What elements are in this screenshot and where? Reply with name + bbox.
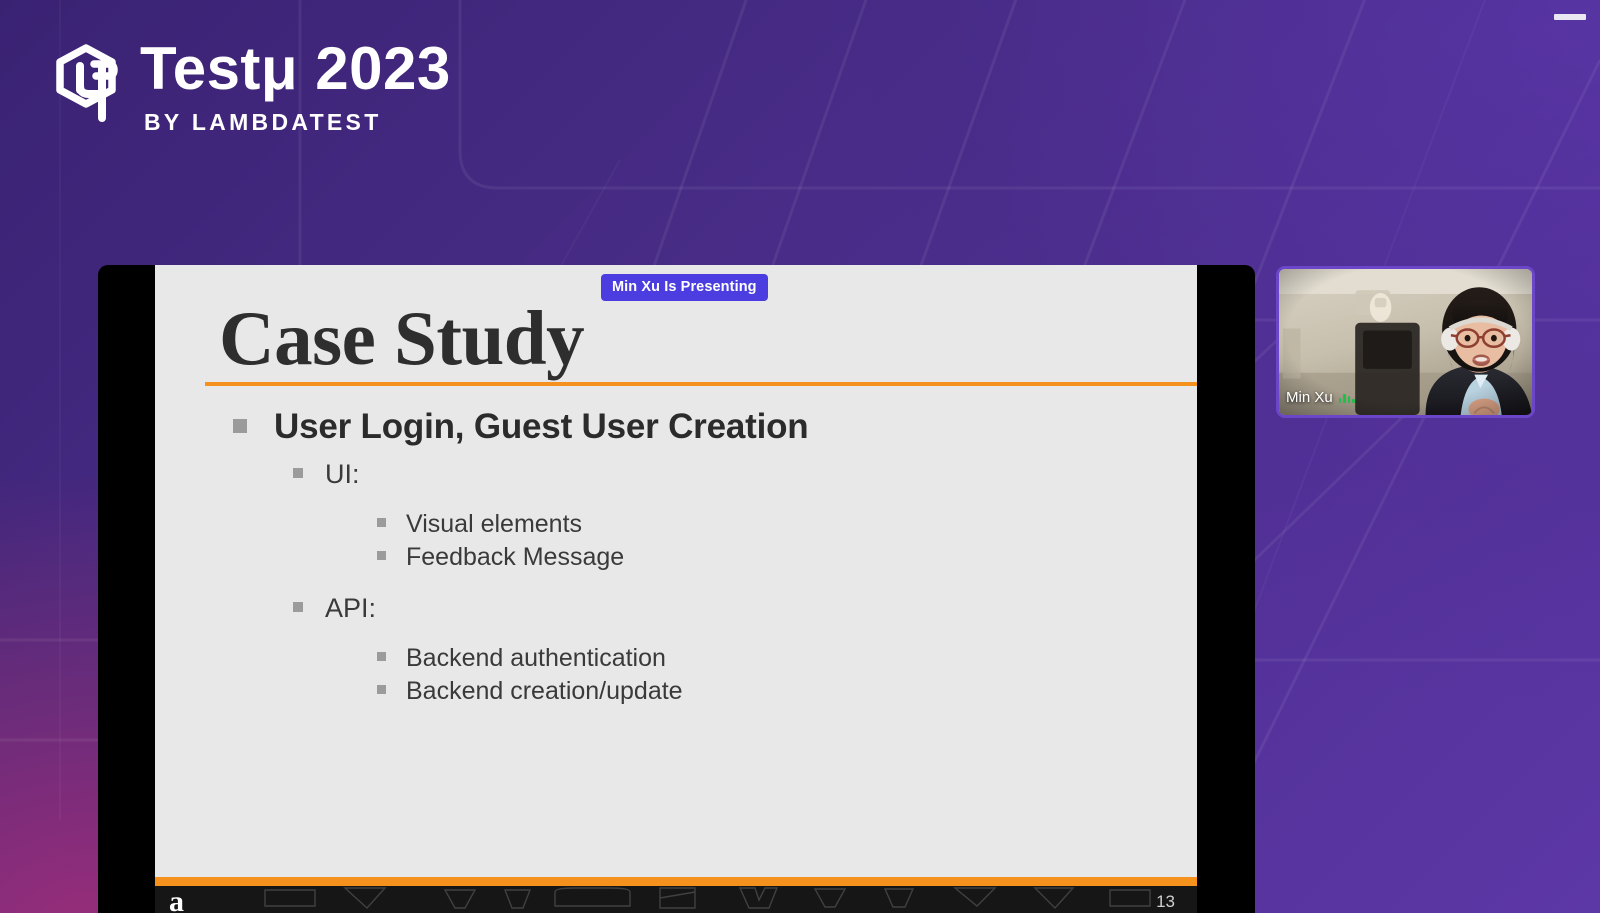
bullet-marker-icon [377, 551, 386, 560]
bullet-text: User Login, Guest User Creation [274, 407, 808, 447]
footer-brand-mark: a [169, 887, 184, 913]
bullet-item: Visual elements [377, 510, 1197, 539]
bullet-item: Backend creation/update [377, 677, 1197, 706]
hexagon-mu-logo-icon [50, 42, 124, 122]
minimize-icon[interactable] [1554, 14, 1586, 20]
bullet-item: User Login, Guest User Creation [233, 407, 1197, 447]
participant-name: Min Xu [1286, 389, 1333, 406]
slide-number: 13 [1156, 892, 1175, 912]
bullet-marker-icon [293, 602, 303, 612]
bullet-text: API: [325, 593, 376, 624]
slide-footer: a 13 [155, 886, 1197, 913]
brand-text-block: Testμ 2023 BY LAMBDATEST [140, 38, 451, 136]
bullet-marker-icon [377, 652, 386, 661]
title-divider [205, 382, 1197, 386]
bullet-item: UI: [293, 459, 1197, 490]
footer-decoration-pattern [155, 886, 1197, 913]
bullet-text: Backend authentication [406, 644, 666, 673]
bullet-text: Visual elements [406, 510, 582, 539]
bullet-item: Feedback Message [377, 543, 1197, 572]
brand-header: Testμ 2023 BY LAMBDATEST [50, 38, 451, 136]
bullet-text: Feedback Message [406, 543, 624, 572]
slide-body: User Login, Guest User Creation UI: Visu… [155, 407, 1197, 710]
spacer [155, 493, 1197, 510]
bullet-item: API: [293, 593, 1197, 624]
webcam-nameplate: Min Xu [1286, 389, 1355, 406]
slide-title: Case Study [219, 300, 584, 377]
bullet-marker-icon [377, 685, 386, 694]
webcam-tile-min-xu[interactable]: Min Xu [1276, 266, 1535, 418]
audio-level-icon [1339, 392, 1355, 403]
presenting-badge: Min Xu Is Presenting [601, 274, 768, 301]
brand-title: Testμ 2023 [140, 38, 451, 99]
bullet-text: Backend creation/update [406, 677, 683, 706]
bullet-marker-icon [377, 518, 386, 527]
spacer [155, 627, 1197, 644]
spacer [155, 576, 1197, 593]
brand-subtitle: BY LAMBDATEST [144, 109, 451, 136]
bullet-marker-icon [233, 419, 247, 433]
bullet-marker-icon [293, 468, 303, 478]
slide-footer-divider [155, 877, 1197, 886]
presentation-stage[interactable]: Min Xu Is Presenting Case Study User Log… [98, 265, 1255, 913]
bullet-item: Backend authentication [377, 644, 1197, 673]
slide-surface: Min Xu Is Presenting Case Study User Log… [155, 265, 1197, 913]
bullet-text: UI: [325, 459, 360, 490]
